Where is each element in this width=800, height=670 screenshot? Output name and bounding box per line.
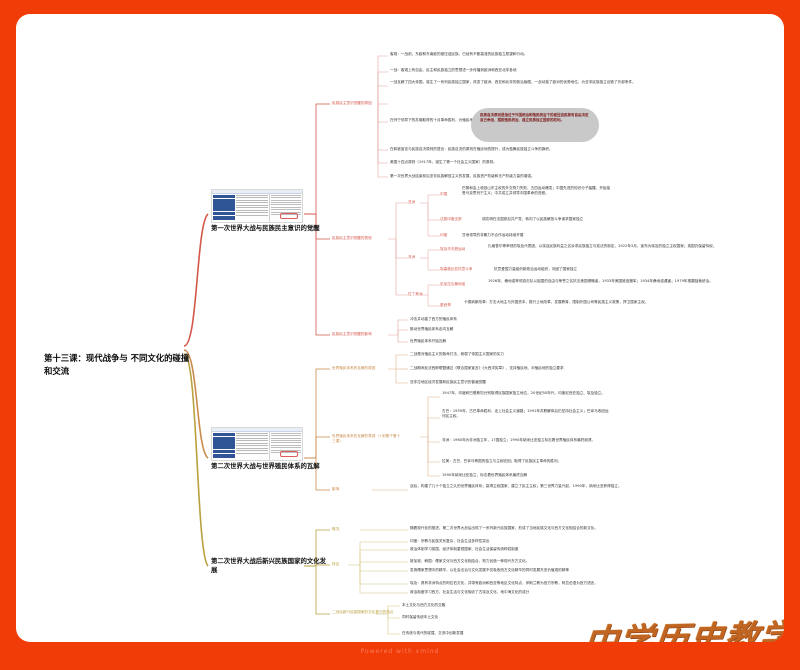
event-label-nicaragua-sandino[interactable]: 尼加拉瓜桑地诺 [440,282,482,287]
branch-title-1[interactable]: 第一次世界大战与民族民主意识的觉醒 [211,224,329,233]
region-label-africa[interactable]: 非洲 [408,255,422,260]
branch-2-thumbnail[interactable] [211,427,303,461]
leaf-b3-trait-2[interactable]: 同时保留传统本土文化 [402,615,602,620]
leaf-b2-manifest-2[interactable]: 古巴：1959年，古巴革命胜利，走上社会主义道路；1991年苏联解体后仍坚持社会… [442,409,612,419]
region-label-asia[interactable]: 亚洲 [408,200,422,205]
leaf-b3-trait-1[interactable]: 本土文化与西方文化的交融 [402,603,602,608]
sub-label-b2-impact[interactable]: 影响 [332,487,354,492]
leaf-b2-manifest-3[interactable]: 非洲：1960年为非洲独立年，17国独立；1990年纳米比亚独立标志着世界殖民体… [442,438,622,443]
leaf-b2-cause-3[interactable]: 亚非拉地区经济发展和民族民主意识的普遍觉醒 [410,380,640,385]
thumbnail-left-column [212,432,235,461]
sub-label-b1-manifestations[interactable]: 民族民主意识觉醒的表现 [332,236,380,241]
leaf-b3-egypt-2[interactable]: 政治制度学习西方，社会生活与文化吸收了古埃及文化、地中海文化的成分 [410,590,670,595]
leaf-b3-egypt-1[interactable]: 埃及：具有非洲特点的阿拉伯文化，并带有欧洲和西亚等地区文化特点，伊斯兰教为官方宗… [410,581,690,586]
thumbnail-left-column [212,194,235,223]
thumbnail-mid-column [235,194,268,223]
leaf-b1-cause-6[interactable]: 美国十四点原则（1917年，诞生了第一个社会主义国家）的原则。 [390,160,640,165]
sub-label-b2-manifestations[interactable]: 世界殖民体系的瓦解的表现（+到第下第十三课） [332,434,402,444]
sub-label-b3-features[interactable]: 特征 [332,562,352,567]
region-label-latin-america[interactable]: 拉丁美洲 [408,292,428,297]
leaf-b3-singapore-korea-1[interactable]: 新加坡、韩国：儒家文化与西方文化相结合，努力创造一种现代东方文化。 [410,559,660,564]
branch-1-thumbnail[interactable] [211,189,303,223]
thumbnail-annotation-mark [280,451,298,457]
country-label-india[interactable]: 印度 [440,233,458,238]
leaf-b1-impact-1[interactable]: 冲击并动摇了西方的殖民体系 [410,317,610,322]
leaf-b3-overview-1[interactable]: 随着现代化的推进，第二次世界大战后出现了一系列新兴民族国家，形成了当地民族文化与… [410,526,700,531]
leaf-b3-trait-3[interactable]: 在传统与现代的碰撞、交流中创新发展 [402,631,602,636]
sub-label-b1-impact[interactable]: 民族民主意识觉醒的影响 [332,332,380,337]
event-label-egypt-wafd[interactable]: 埃及华夫脱运动 [440,247,482,252]
leaf-b1-cause-7[interactable]: 第一次世界大战结束前后亚非民族解放主义的发展，民族资产阶级和无产阶级力量的增强。 [390,174,670,179]
country-label-french-indochina[interactable]: 法属印度支那 [440,217,474,222]
country-label-mexico[interactable]: 墨西哥 [440,303,460,308]
national-self-determination-callout[interactable]: 民族自决原则是指位于外国统治和殖民统治下的被压迫民族有自由决定自己命运、摆脱殖民… [471,108,599,142]
country-label-china[interactable]: 中国 [440,192,458,197]
sub-label-b3-revival-traits[interactable]: 二战后新兴民族国家的文化复兴的特点 [332,610,398,615]
leaf-b2-manifest-4[interactable]: 拉美：古巴、巴拿马等国的独立与主权收回；取得了民族民主革命的胜利。 [442,459,632,464]
leaf-mexico-detail[interactable]: 卡德纳斯改革：打击大地主与外国资本，推行土地改革、发展教育、限制外国公司等民族主… [464,300,714,305]
leaf-china-detail[interactable]: 巴黎和会上收回山东主权的外交努力失败，五四运动爆发；中国先进的知识分子猛醒，开始… [462,186,612,196]
page-frame: 第十三课：现代战争与 不同文化的碰撞和交流 [0,0,800,670]
mindmap-canvas[interactable]: 第十三课：现代战争与 不同文化的碰撞和交流 [16,14,784,642]
sub-label-b2-causes[interactable]: 世界殖民体系的瓦解的原因 [332,366,382,371]
leaf-b3-india-1[interactable]: 印度：宗教与民族关系复杂，社会生活多样性突出 [410,539,640,544]
leaf-indochina-detail[interactable]: 胡志明在法国参加共产党，转向了以民族解放斗争谋求国家独立 [482,217,682,222]
leaf-b2-cause-2[interactable]: 二战期间反法西斯联盟通过《联合国家宣言》《大西洋宪章》，支持殖民地、半殖民地的独… [410,366,660,371]
leaf-ethiopia-detail[interactable]: 抗意爱国力量组织新政治运动组织，巩固了国家独立 [494,267,694,272]
branch-title-2[interactable]: 第二次世界大战与世界殖民体系的瓦解 [211,462,329,471]
thumbnail-annotation-mark [280,213,298,219]
leaf-b2-manifest-1[interactable]: 1947年，印度和巴基斯坦分别取得民族国家独立地位，20世纪50年代，印度尼西亚… [442,391,622,396]
site-watermark: 中学历史教学园地 [581,609,784,642]
connector-wires [16,14,784,642]
leaf-b2-impact-1[interactable]: 战后，构建了几十个独立之久的世界殖民体系；赢得主权国家，建立了民主主权；第三世界… [410,484,710,489]
leaf-b2-manifest-5[interactable]: 1990年纳米比亚独立，标志着世界殖民体系最终瓦解 [442,473,632,478]
leaf-egypt-detail[interactable]: 扎格鲁尔等率领的埃及代表团，以埃及民族利益之名诉求民族独立与宪法的制定，1922… [488,244,718,249]
leaf-b2-cause-1[interactable]: 二战是对殖民主义的致命打击，削弱了帝国主义国家的实力 [410,352,640,357]
branch-title-3[interactable]: 第二次世界大战后新兴民族国家的文化发展 [211,557,329,574]
root-node-title[interactable]: 第十三课：现代战争与 不同文化的碰撞和交流 [44,352,194,377]
thumbnail-mid-column [235,432,268,461]
leaf-b1-impact-3[interactable]: 世界殖民体系开始瓦解 [410,339,610,344]
leaf-nicaragua-detail[interactable]: 1926年，桑地诺率领游击队以祖国的自由与荣誉之名抗击美国侵略者，1933年美国… [488,279,748,284]
leaf-b3-singapore-korea-2[interactable]: 发扬儒家思想中的精华，以社会法治与文化发展不仅吸收西方文化精华的同时发展东亚价值… [410,568,680,573]
event-label-ethiopia-resistance[interactable]: 埃塞俄比亚抗意斗争 [440,267,488,272]
sub-label-b1-causes[interactable]: 民族民主意识觉醒的原因 [332,101,380,106]
leaf-b1-cause-2[interactable]: 一战：客观上有自由、民主和民族独立的思想进一步传播到欧洲和西亚北非各地 [390,68,640,73]
footer-brand-text: Powered with xmind [0,648,800,655]
leaf-b1-impact-2[interactable]: 推动世界殖民体系走向瓦解 [410,327,610,332]
leaf-india-detail[interactable]: 甘地领导的非暴力不合作运动持续开展 [462,233,642,238]
leaf-b3-india-2[interactable]: 政治体制学习英国，经济体制重视国家、社会生活保留传统种姓制度 [410,547,640,552]
sub-label-b3-overview[interactable]: 概况 [332,527,352,532]
leaf-b1-cause-1[interactable]: 客观：一战前，东欧和东南欧的被压迫民族，已经有不断高涨的民族独立愿望和行动。 [390,52,640,57]
leaf-b1-cause-5[interactable]: 在和被宣言与民族自决原则的提出：民族自决的原则在殖民地的提升，成为鼓舞民族独立斗… [390,147,670,152]
leaf-b1-cause-3[interactable]: 一战瓦解了四大帝国，诞生了一系列民族独立国家，改变了欧洲、西亚和北非的政治版图，… [390,80,680,85]
